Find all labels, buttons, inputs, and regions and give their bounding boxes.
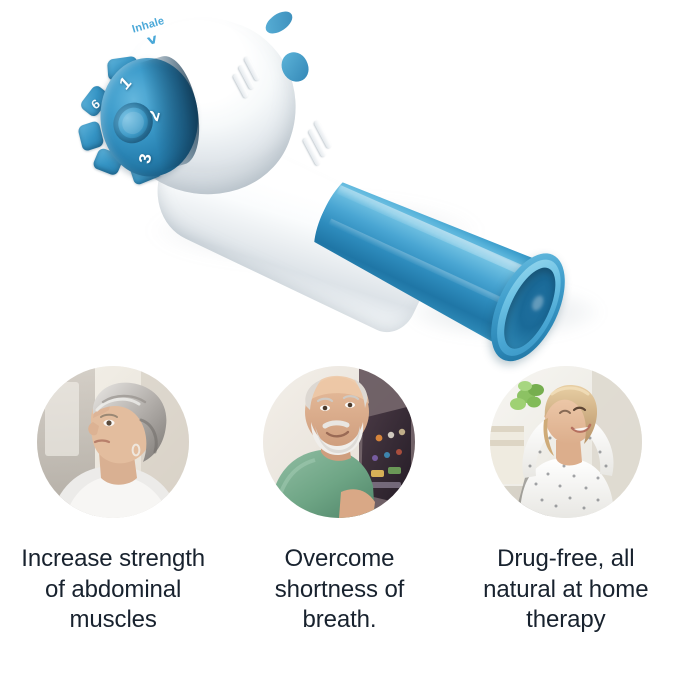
hero-stage: Inhale ∨ 6 1 2 3	[0, 0, 679, 360]
benefit-item-increase-strength: Increase strength of abdominal muscles	[0, 366, 226, 679]
mouthpiece-cone	[298, 156, 574, 371]
benefit-caption: Increase strength of abdominal muscles	[0, 544, 226, 636]
benefit-caption: Drug-free, all natural at home therapy	[453, 544, 679, 636]
breathing-exerciser-device: Inhale ∨ 6 1 2 3	[96, 8, 566, 308]
product-hero-image: Inhale ∨ 6 1 2 3	[0, 0, 679, 360]
benefit-item-drug-free: Drug-free, all natural at home therapy	[453, 366, 679, 679]
benefit-item-overcome-shortness: Overcome shortness of breath.	[226, 366, 452, 679]
benefit-photo-stretching-woman	[490, 366, 642, 518]
benefit-photo-older-woman	[37, 366, 189, 518]
benefits-row: Increase strength of abdominal muscles	[0, 366, 679, 679]
benefit-caption: Overcome shortness of breath.	[226, 544, 452, 636]
product-benefits-page: Inhale ∨ 6 1 2 3	[0, 0, 679, 679]
benefit-photo-older-man	[263, 366, 415, 518]
